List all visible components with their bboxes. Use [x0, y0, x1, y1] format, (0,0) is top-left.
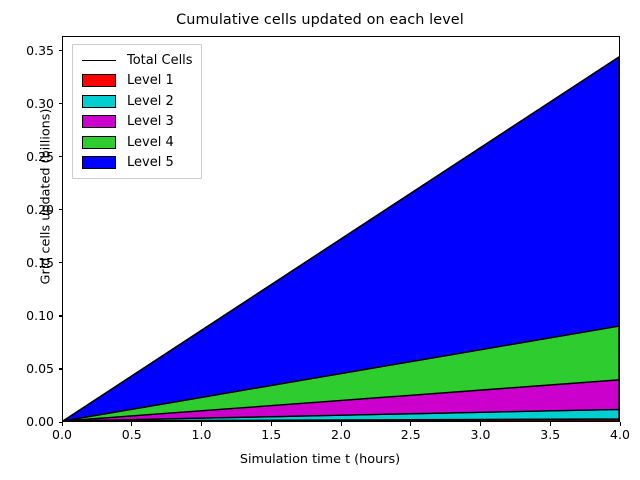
y-tick-mark	[59, 262, 63, 263]
x-tick-mark	[131, 422, 132, 426]
x-tick-mark	[341, 422, 342, 426]
x-tick-label: 3.5	[525, 429, 575, 442]
x-tick-mark	[62, 422, 63, 426]
chart-title: Cumulative cells updated on each level	[0, 12, 640, 28]
y-tick-label: 0.00	[6, 416, 54, 429]
x-tick-label: 1.0	[177, 429, 227, 442]
x-tick-mark	[201, 422, 202, 426]
legend-label: Level 4	[127, 135, 174, 150]
y-axis-label: Grid cells updated (billions)	[39, 67, 54, 327]
legend-item-level-5[interactable]: Level 5	[79, 153, 193, 174]
legend-item-level-3[interactable]: Level 3	[79, 112, 193, 133]
y-tick-mark	[59, 368, 63, 369]
legend-patch-icon	[82, 115, 116, 128]
legend-patch-icon	[82, 156, 116, 169]
legend-patch-icon	[82, 74, 116, 87]
x-tick-label: 0.0	[37, 429, 87, 442]
x-tick-mark	[410, 422, 411, 426]
x-tick-mark	[620, 422, 621, 426]
y-tick-mark	[59, 103, 63, 104]
x-tick-mark	[271, 422, 272, 426]
y-tick-mark	[59, 50, 63, 51]
x-tick-label: 1.5	[246, 429, 296, 442]
legend-label: Level 2	[127, 94, 174, 109]
legend-swatch	[79, 153, 119, 173]
x-tick-label: 2.0	[316, 429, 366, 442]
legend-swatch	[79, 91, 119, 111]
legend-item-total-cells[interactable]: Total Cells	[79, 50, 193, 71]
legend-swatch	[79, 71, 119, 91]
legend-swatch	[79, 132, 119, 152]
y-tick-mark	[59, 156, 63, 157]
x-tick-label: 4.0	[595, 429, 640, 442]
legend-item-level-4[interactable]: Level 4	[79, 132, 193, 153]
legend-patch-icon	[82, 95, 116, 108]
legend-swatch	[79, 112, 119, 132]
y-tick-mark	[59, 209, 63, 210]
x-tick-label: 0.5	[107, 429, 157, 442]
legend-patch-icon	[82, 136, 116, 149]
x-tick-label: 2.5	[386, 429, 436, 442]
y-tick-label: 0.05	[6, 363, 54, 376]
chart-legend: Total CellsLevel 1Level 2Level 3Level 4L…	[72, 44, 202, 179]
legend-line-icon	[82, 60, 116, 61]
x-tick-mark	[550, 422, 551, 426]
legend-label: Level 5	[127, 155, 174, 170]
y-tick-label: 0.35	[6, 45, 54, 58]
legend-swatch	[79, 50, 119, 70]
x-tick-label: 3.0	[456, 429, 506, 442]
x-tick-mark	[480, 422, 481, 426]
x-axis-label: Simulation time t (hours)	[0, 452, 640, 467]
legend-item-level-1[interactable]: Level 1	[79, 71, 193, 92]
legend-label: Total Cells	[127, 53, 193, 68]
legend-label: Level 1	[127, 73, 174, 88]
y-tick-mark	[59, 315, 63, 316]
legend-item-level-2[interactable]: Level 2	[79, 91, 193, 112]
chart-figure: Cumulative cells updated on each level 0…	[0, 0, 640, 480]
legend-label: Level 3	[127, 114, 174, 129]
